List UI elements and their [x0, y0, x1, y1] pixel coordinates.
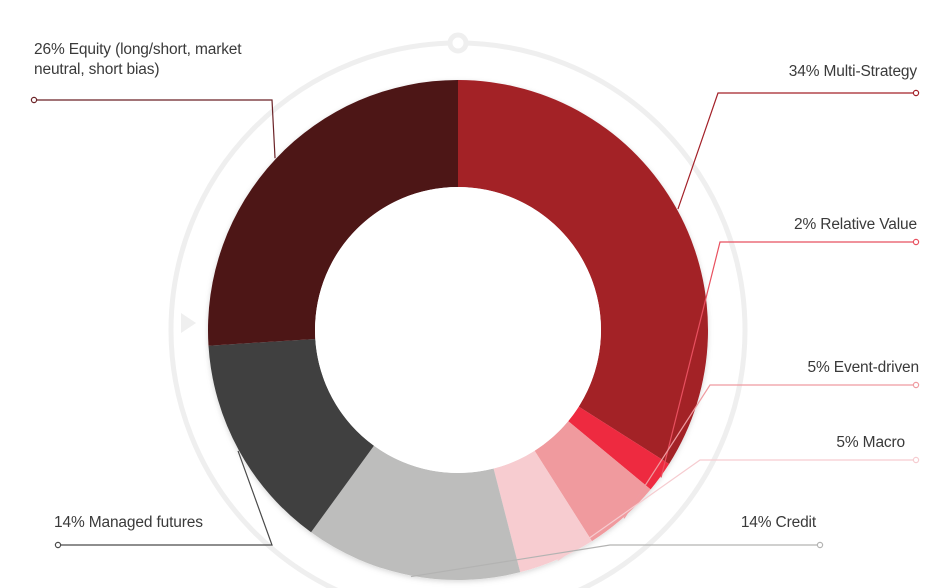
leader-endpoint-dot-icon — [913, 457, 918, 462]
slice-label-event-driven: 5% Event-driven — [620, 358, 919, 378]
slice-label-macro: 5% Macro — [620, 433, 905, 453]
slice-label-relative-value: 2% Relative Value — [620, 215, 917, 235]
circle-marker-icon — [450, 35, 466, 51]
donut-chart: 26% Equity (long/short, market neutral, … — [0, 0, 950, 588]
leader-endpoint-dot-icon — [31, 97, 36, 102]
leader-endpoint-dot-icon — [913, 90, 918, 95]
slice-label-multi-strategy: 34% Multi-Strategy — [620, 62, 917, 82]
leader-line — [55, 451, 272, 548]
donut-hole — [315, 187, 601, 473]
slice-label-credit: 14% Credit — [560, 513, 816, 533]
leader-endpoint-dot-icon — [913, 382, 918, 387]
slice-label-managed-futures: 14% Managed futures — [54, 513, 354, 533]
leader-line-path — [678, 93, 916, 209]
leader-endpoint-dot-icon — [817, 542, 822, 547]
triangle-marker-icon — [181, 313, 196, 333]
slice-label-equity: 26% Equity (long/short, market neutral, … — [34, 40, 299, 80]
leader-endpoint-dot-icon — [55, 542, 60, 547]
leader-line — [31, 97, 275, 158]
leader-line — [678, 90, 919, 209]
leader-line-path — [34, 100, 275, 158]
donut-chart-canvas — [0, 0, 950, 588]
leader-endpoint-dot-icon — [913, 239, 918, 244]
